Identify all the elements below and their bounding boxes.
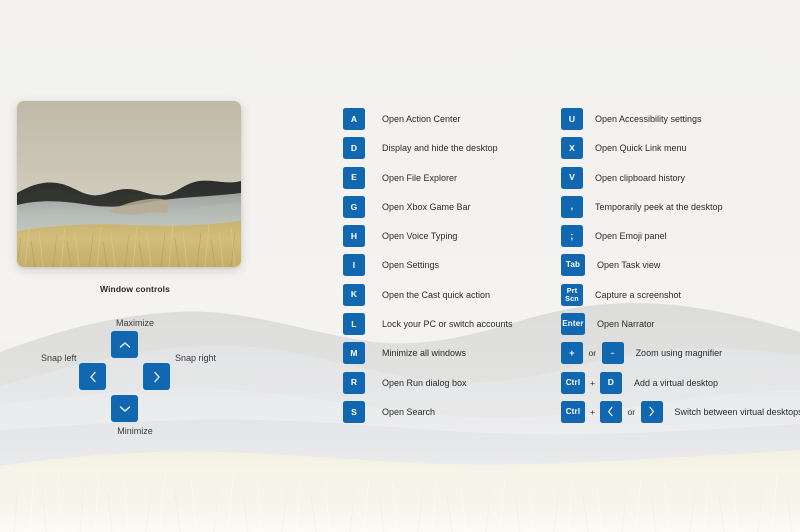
key-a[interactable]: A <box>343 108 365 130</box>
shortcut-description: Open Search <box>382 401 435 423</box>
key-tab[interactable]: Tab <box>561 254 585 276</box>
shortcut-row: TabOpen Task view <box>561 254 800 283</box>
key-group: S <box>343 401 365 423</box>
key-group: I <box>343 254 365 276</box>
key-group: L <box>343 313 365 335</box>
shortcut-row: Ctrl+orSwitch between virtual desktops <box>561 401 800 430</box>
key-label: + <box>569 349 574 358</box>
key-m[interactable]: M <box>343 342 365 364</box>
chevron-right-icon <box>153 371 161 383</box>
key-label: D <box>351 144 357 153</box>
shortcut-list-right: UOpen Accessibility settingsXOpen Quick … <box>561 108 800 430</box>
key-group: PrtScn <box>561 284 583 306</box>
key-label: V <box>569 173 575 182</box>
key-s[interactable]: S <box>343 401 365 423</box>
shortcut-row: LLock your PC or switch accounts <box>343 313 513 342</box>
key-i[interactable]: I <box>343 254 365 276</box>
key-label: S <box>351 408 357 417</box>
key-label: R <box>351 378 357 387</box>
shortcut-row: EnterOpen Narrator <box>561 313 800 342</box>
snap-right-label: Snap right <box>175 353 216 363</box>
key-label: I <box>353 261 356 270</box>
shortcut-description: Open Quick Link menu <box>595 137 687 159</box>
key-group: +or- <box>561 342 624 364</box>
key-group: M <box>343 342 365 364</box>
key-group: R <box>343 372 365 394</box>
shortcut-description: Open Settings <box>382 254 439 276</box>
maximize-button[interactable] <box>111 331 138 358</box>
chevron-left-icon <box>89 371 97 383</box>
chevron-up-icon <box>119 341 131 349</box>
key-label: U <box>569 115 575 124</box>
key-group: H <box>343 225 365 247</box>
shortcut-row: IOpen Settings <box>343 254 513 283</box>
shortcut-row: DDisplay and hide the desktop <box>343 137 513 166</box>
window-controls-title: Window controls <box>0 284 270 294</box>
shortcut-row: GOpen Xbox Game Bar <box>343 196 513 225</box>
key-enter[interactable]: Enter <box>561 313 585 335</box>
shortcut-description: Switch between virtual desktops <box>675 401 800 423</box>
key-group: E <box>343 167 365 189</box>
snap-right-button[interactable] <box>143 363 170 390</box>
key-group: Ctrl+or <box>561 401 663 423</box>
maximize-label: Maximize <box>0 318 270 328</box>
key-group: Tab <box>561 254 585 276</box>
shortcut-row: UOpen Accessibility settings <box>561 108 800 137</box>
minimize-button[interactable] <box>111 395 138 422</box>
shortcut-row: Ctrl+DAdd a virtual desktop <box>561 372 800 401</box>
chevron-down-icon <box>119 405 131 413</box>
key-chevron-right-icon[interactable] <box>641 401 663 423</box>
key-group: G <box>343 196 365 218</box>
key-r[interactable]: R <box>343 372 365 394</box>
shortcut-description: Add a virtual desktop <box>634 372 718 394</box>
key-v[interactable]: V <box>561 167 583 189</box>
key-label: Enter <box>562 320 583 328</box>
key-label: H <box>351 232 357 241</box>
shortcut-row: XOpen Quick Link menu <box>561 137 800 166</box>
shortcut-description: Open the Cast quick action <box>382 284 490 306</box>
key-label: E <box>351 173 357 182</box>
key-[interactable]: - <box>602 342 624 364</box>
shortcut-description: Open Narrator <box>597 313 655 335</box>
shortcut-description: Open clipboard history <box>595 167 685 189</box>
key-group: Enter <box>561 313 585 335</box>
shortcut-description: Lock your PC or switch accounts <box>382 313 513 335</box>
key-prt-scn[interactable]: PrtScn <box>561 284 583 306</box>
shortcut-row: +or-Zoom using magnifier <box>561 342 800 371</box>
shortcut-description: Open Accessibility settings <box>595 108 702 130</box>
key-u[interactable]: U <box>561 108 583 130</box>
key-label: X <box>569 144 575 153</box>
shortcut-row: SOpen Search <box>343 401 513 430</box>
key-ctrl[interactable]: Ctrl <box>561 401 585 423</box>
minimize-label: Minimize <box>0 426 270 436</box>
shortcut-row: HOpen Voice Typing <box>343 225 513 254</box>
key-label: A <box>351 115 357 124</box>
key-label-line: Scn <box>565 295 579 303</box>
shortcut-description: Open File Explorer <box>382 167 457 189</box>
shortcut-description: Open Xbox Game Bar <box>382 196 471 218</box>
key-[interactable]: , <box>561 196 583 218</box>
shortcut-description: Minimize all windows <box>382 342 466 364</box>
shortcut-description: Open Voice Typing <box>382 225 457 247</box>
key-label: Ctrl <box>566 408 581 416</box>
key-[interactable]: + <box>561 342 583 364</box>
shortcut-row: EOpen File Explorer <box>343 167 513 196</box>
key-label: L <box>351 320 356 329</box>
key-group: Ctrl+D <box>561 372 622 394</box>
key-x[interactable]: X <box>561 137 583 159</box>
or-separator: or <box>622 401 641 423</box>
shortcut-description: Open Run dialog box <box>382 372 467 394</box>
key-k[interactable]: K <box>343 284 365 306</box>
shortcut-row: AOpen Action Center <box>343 108 513 137</box>
key-label: - <box>611 349 614 358</box>
shortcut-row: ,Temporarily peek at the desktop <box>561 196 800 225</box>
shortcut-row: ;Open Emoji panel <box>561 225 800 254</box>
key-ctrl[interactable]: Ctrl <box>561 372 585 394</box>
key-group: ; <box>561 225 583 247</box>
key-[interactable]: ; <box>561 225 583 247</box>
key-group: A <box>343 108 365 130</box>
shortcut-description: Open Task view <box>597 254 660 276</box>
key-group: X <box>561 137 583 159</box>
shortcut-list-middle: AOpen Action CenterDDisplay and hide the… <box>343 108 513 430</box>
shortcut-description: Open Emoji panel <box>595 225 667 247</box>
snap-left-label: Snap left <box>41 353 77 363</box>
key-group: , <box>561 196 583 218</box>
key-label: G <box>351 203 358 212</box>
shortcut-description: Temporarily peek at the desktop <box>595 196 723 218</box>
shortcut-row: PrtScnCapture a screenshot <box>561 284 800 313</box>
key-group: U <box>561 108 583 130</box>
key-e[interactable]: E <box>343 167 365 189</box>
key-g[interactable]: G <box>343 196 365 218</box>
key-group: D <box>343 137 365 159</box>
shortcut-description: Open Action Center <box>382 108 461 130</box>
key-h[interactable]: H <box>343 225 365 247</box>
key-label: M <box>350 349 357 358</box>
key-group: V <box>561 167 583 189</box>
chevron-left-icon <box>607 406 614 417</box>
key-l[interactable]: L <box>343 313 365 335</box>
shortcut-row: VOpen clipboard history <box>561 167 800 196</box>
key-label: ; <box>570 232 573 241</box>
shortcut-description: Display and hide the desktop <box>382 137 498 159</box>
key-label: Tab <box>566 261 580 269</box>
key-label: , <box>571 202 574 211</box>
plus-separator: + <box>585 401 600 423</box>
shortcut-row: KOpen the Cast quick action <box>343 284 513 313</box>
key-chevron-left-icon[interactable] <box>600 401 622 423</box>
shortcut-description: Capture a screenshot <box>595 284 681 306</box>
key-group: K <box>343 284 365 306</box>
chevron-right-icon <box>648 406 655 417</box>
shortcut-description: Zoom using magnifier <box>636 342 723 364</box>
window-controls-diagram: Window controls Maximize Minimize Snap l… <box>0 284 270 440</box>
key-label: D <box>608 378 614 387</box>
plus-separator: + <box>585 372 600 394</box>
key-d[interactable]: D <box>343 137 365 159</box>
or-separator: or <box>583 342 602 364</box>
shortcut-row: ROpen Run dialog box <box>343 372 513 401</box>
wallpaper-preview-thumbnail <box>17 101 241 267</box>
key-d[interactable]: D <box>600 372 622 394</box>
key-label: K <box>351 290 357 299</box>
snap-left-button[interactable] <box>79 363 106 390</box>
key-label: Ctrl <box>566 379 581 387</box>
shortcut-row: MMinimize all windows <box>343 342 513 371</box>
